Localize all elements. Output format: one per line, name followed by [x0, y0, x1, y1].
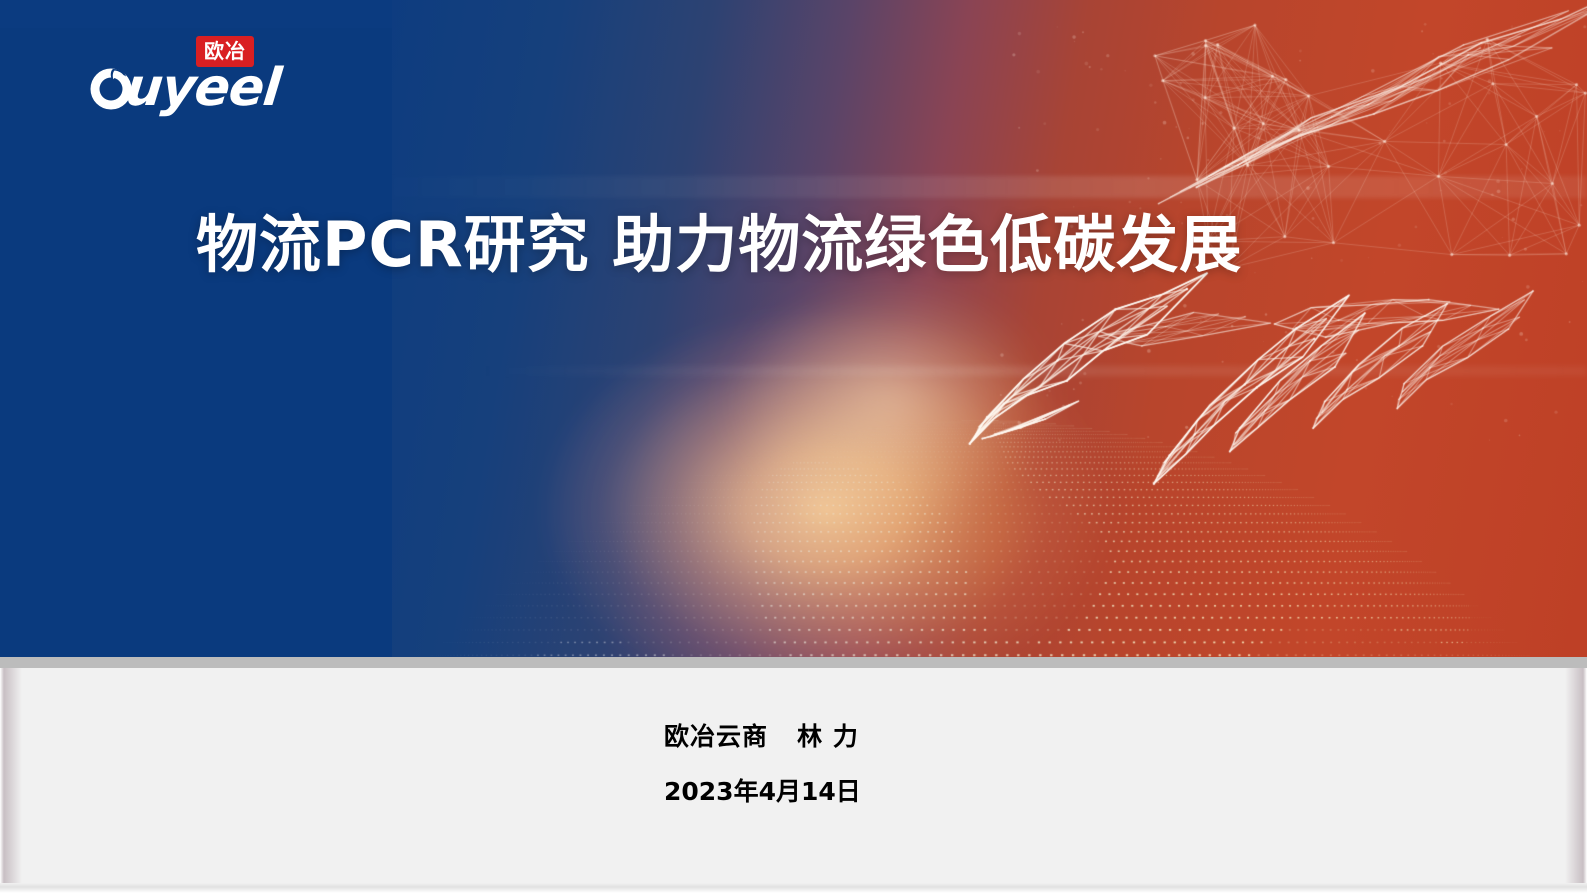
presenter-block: 欧冶云商 林 力 2023年4月14日: [664, 724, 861, 804]
presentation-date: 2023年4月14日: [664, 779, 861, 804]
ouyeel-logo: uyeel 欧冶: [88, 36, 318, 114]
ouyeel-wordmark: uyeel: [123, 62, 283, 114]
presentation-slide: uyeel 欧冶 物流PCR研究 助力物流绿色低碳发展 欧冶云商 林 力 202…: [0, 0, 1587, 893]
ouyeel-chinese-badge: 欧冶: [196, 36, 254, 67]
section-divider: [0, 657, 1587, 668]
presenter-name: 欧冶云商 林 力: [664, 724, 861, 749]
hero-banner: uyeel 欧冶 物流PCR研究 助力物流绿色低碳发展: [0, 0, 1587, 657]
footer-bottom-edge: [0, 883, 1587, 893]
footer-left-edge: [0, 668, 22, 893]
footer-right-edge: [1565, 668, 1587, 893]
slide-title: 物流PCR研究 助力物流绿色低碳发展: [196, 210, 1396, 279]
